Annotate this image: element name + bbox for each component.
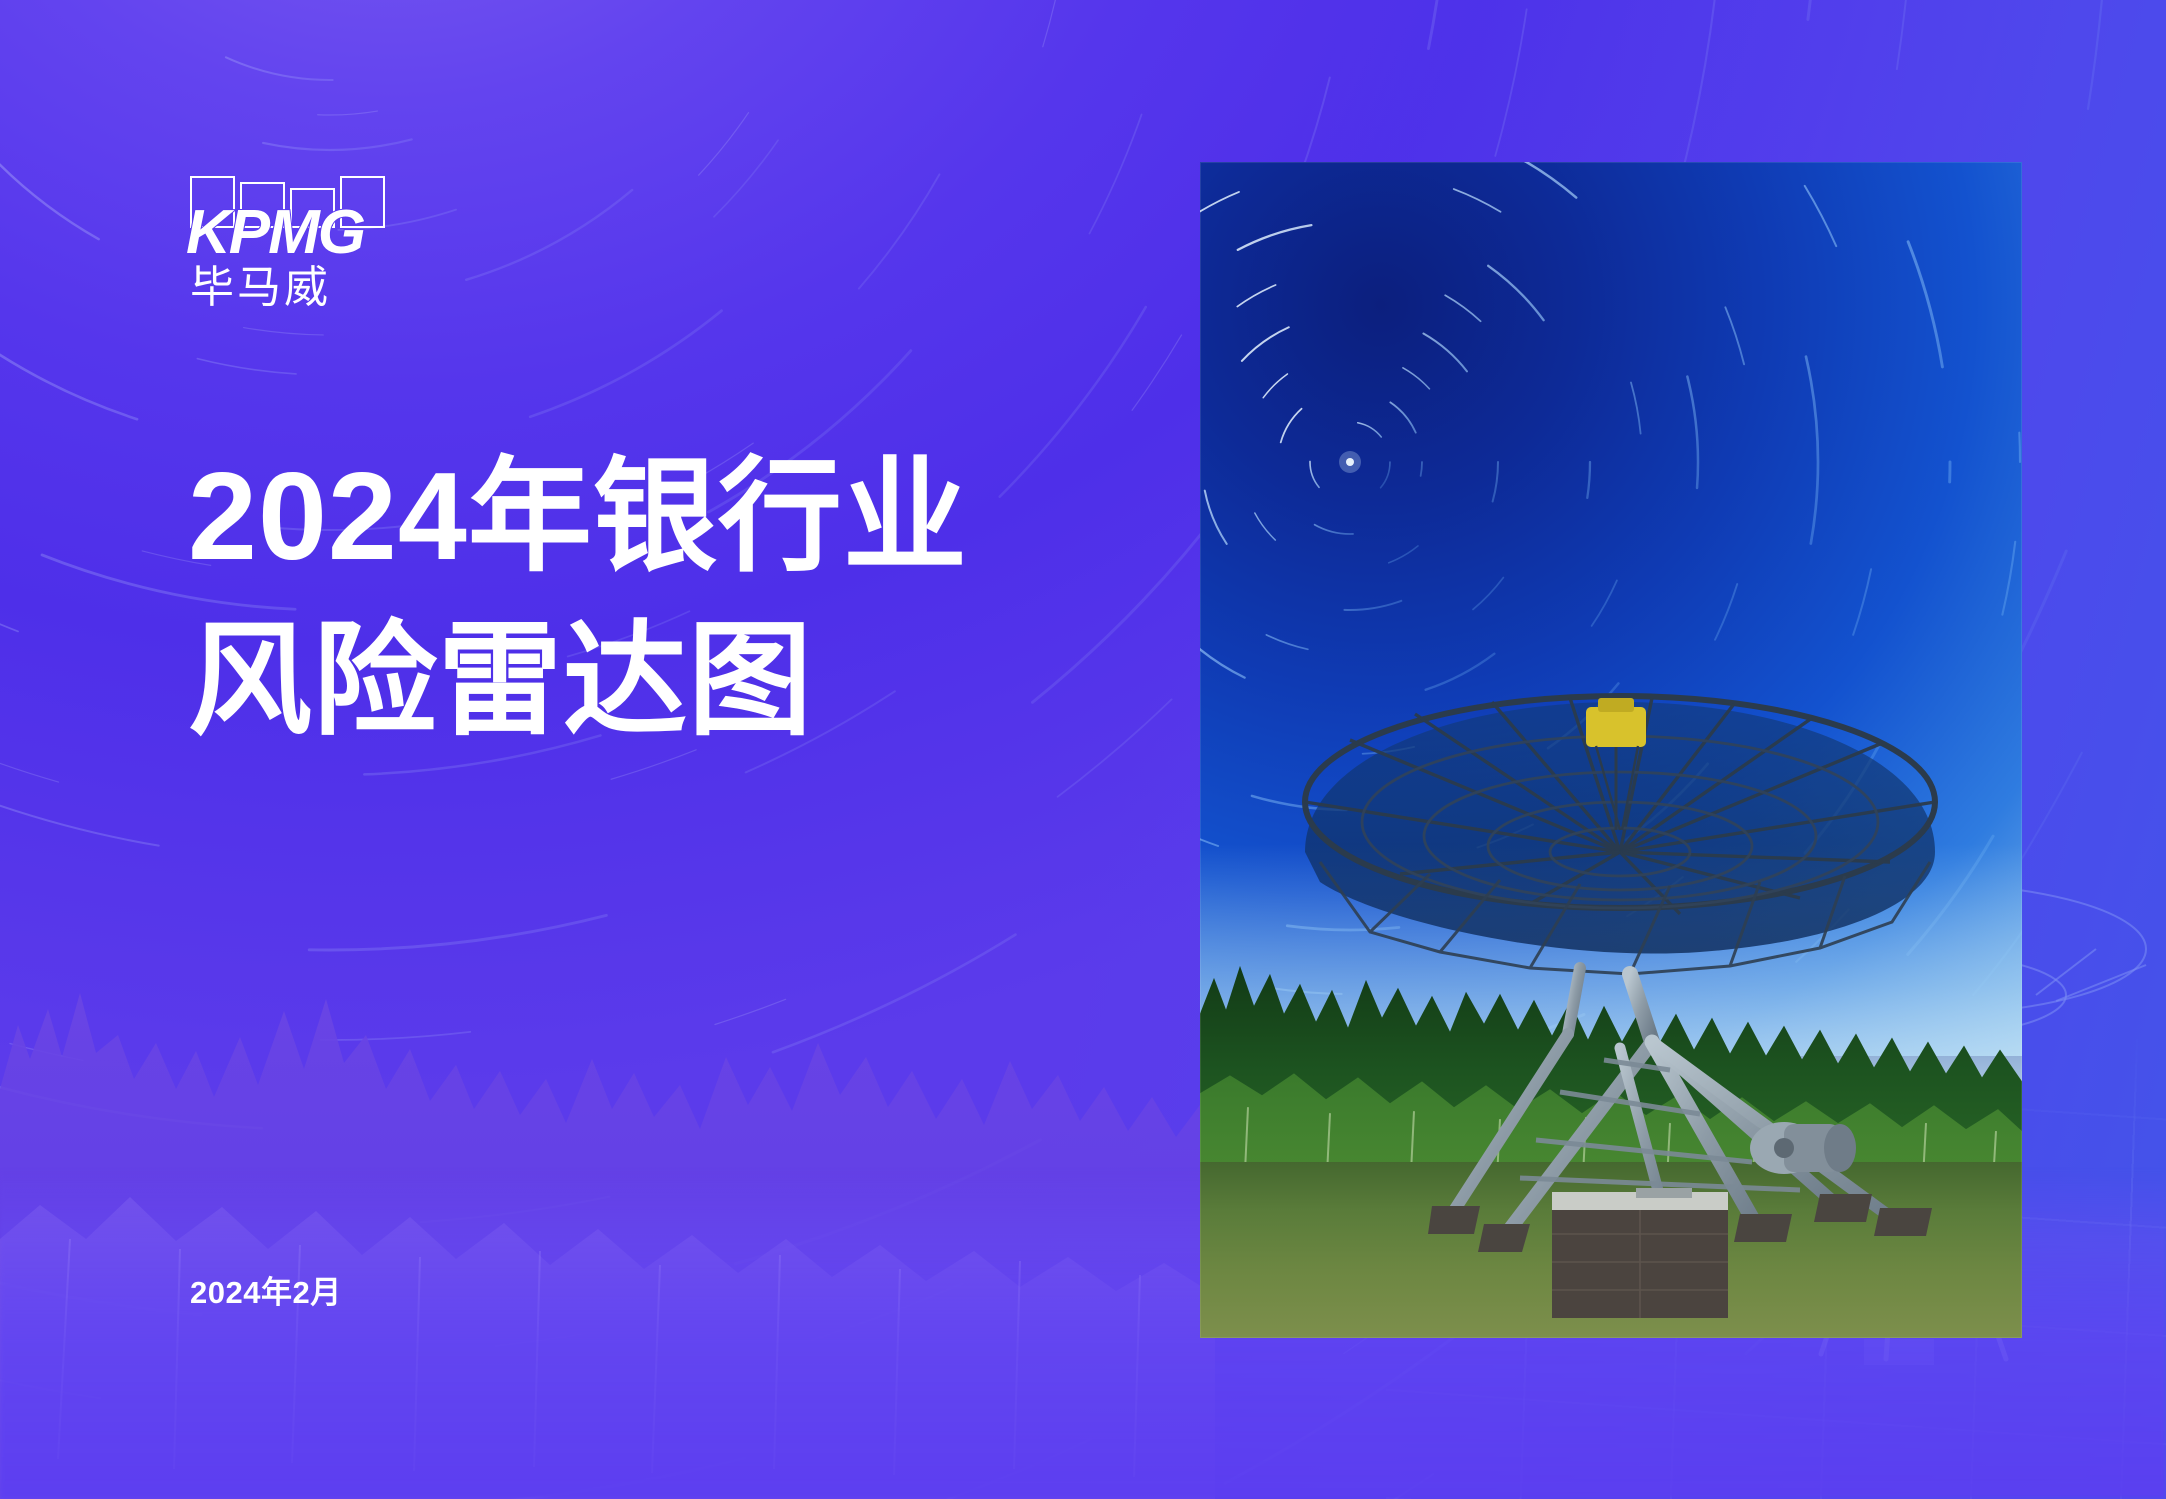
- page-title-line-1: 2024年银行业: [188, 436, 968, 600]
- kpmg-logo: KPMG 毕马威: [190, 168, 440, 328]
- publication-date: 2024年2月: [190, 1267, 342, 1312]
- slide-canvas: KPMG 毕马威 2024年银行业 风险雷达图 2024年2月: [0, 0, 2166, 1499]
- kpmg-wordmark: KPMG: [186, 202, 364, 264]
- kpmg-chinese-name: 毕马威: [190, 266, 331, 310]
- page-title-line-2: 风险雷达图: [188, 600, 968, 764]
- cover-photo: [1200, 162, 2022, 1338]
- page-title: 2024年银行业 风险雷达图: [188, 436, 968, 763]
- photo-radio-telescope: [1200, 162, 2022, 1338]
